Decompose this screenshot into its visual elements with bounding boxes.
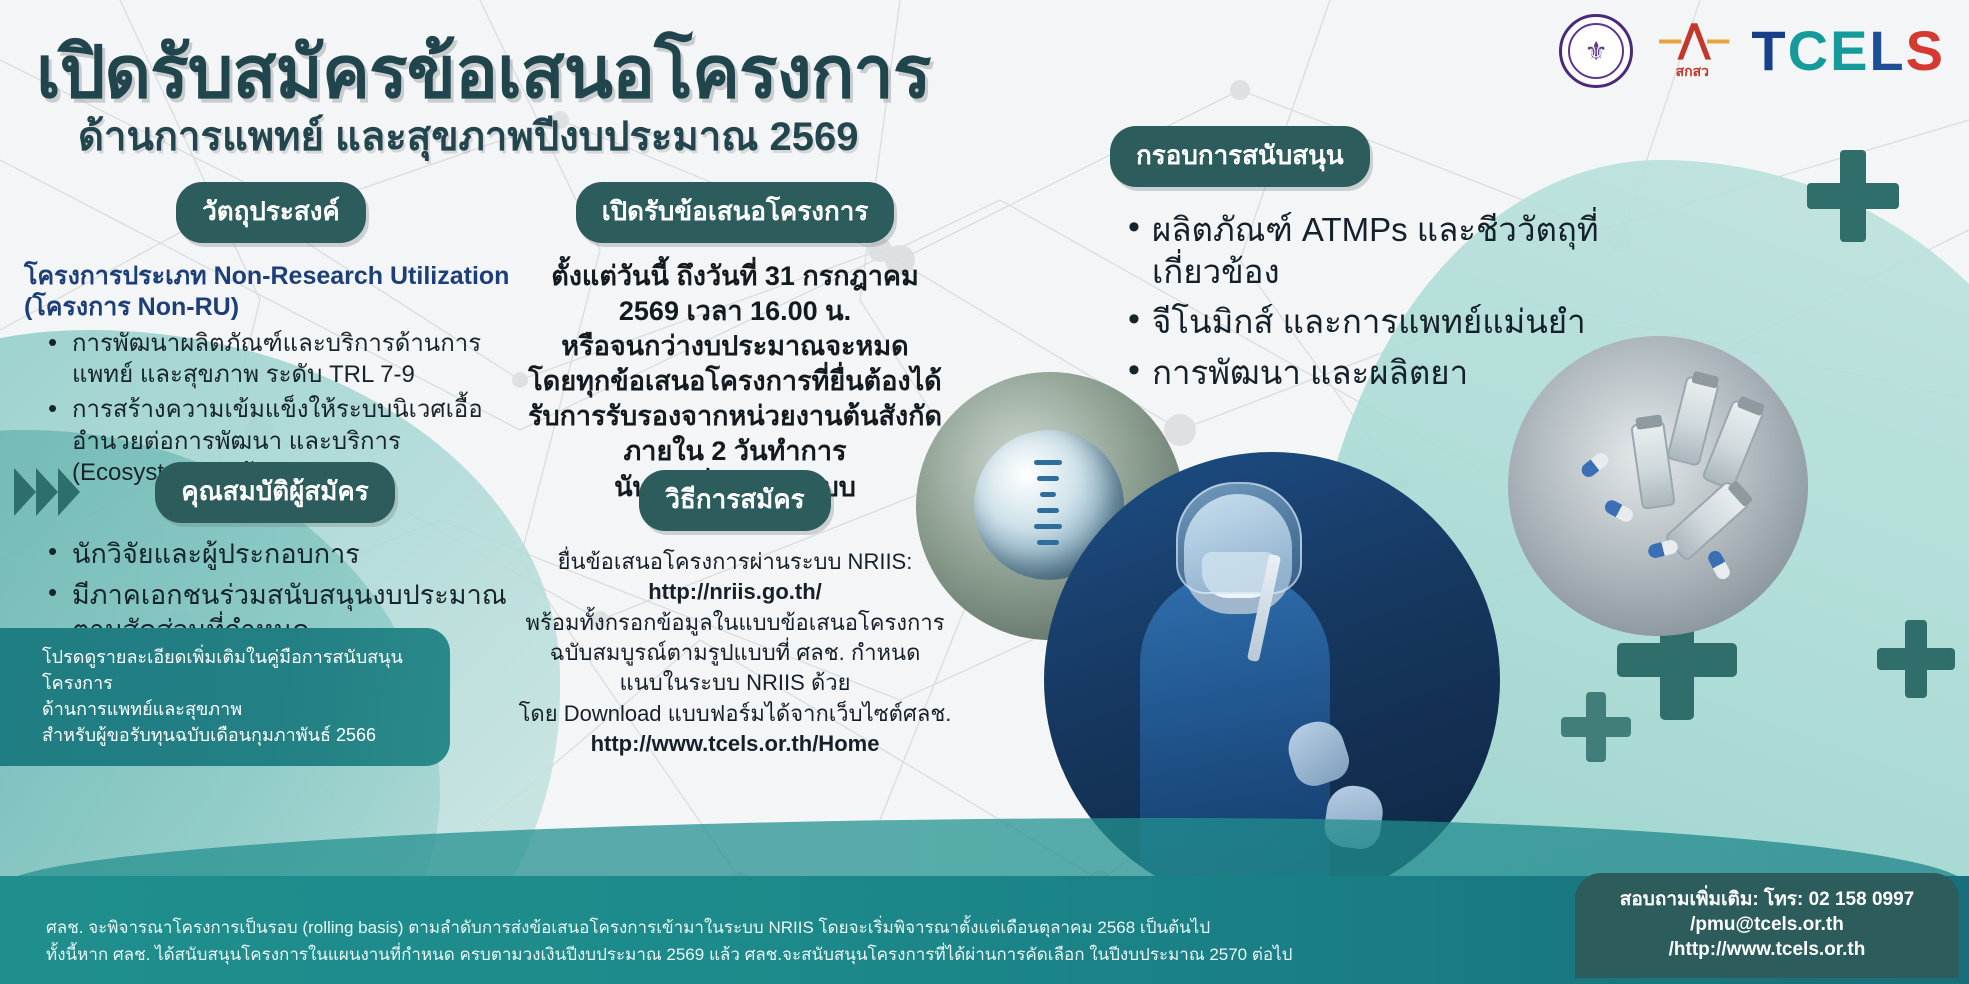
apply-line-6: โดย Download แบบฟอร์มได้จากเว็บไซต์ศลช.: [500, 699, 970, 729]
call-pill-heading: เปิดรับข้อเสนอโครงการ: [576, 182, 895, 243]
seal-emblem-icon: ⚜: [1568, 23, 1624, 79]
medical-cross-icon: [1840, 150, 1866, 242]
call-for-proposal-section: เปิดรับข้อเสนอโครงการ ตั้งแต่วันนี้ ถึงว…: [500, 182, 970, 505]
apply-line-1: ยื่นข้อเสนอโครงการผ่านระบบ NRIIS:: [500, 547, 970, 577]
call-line-4: โดยทุกข้อเสนอโครงการที่ยื่นต้องได้: [500, 364, 970, 399]
worker-head-graphic: [1184, 494, 1292, 614]
nriis-url-link[interactable]: http://nriis.go.th/: [500, 577, 970, 607]
capsule-graphic: [1602, 498, 1635, 524]
medical-cross-icon: [1586, 692, 1606, 762]
capsule-graphic: [1647, 539, 1679, 560]
objective-heading-line1: โครงการประเภท Non-Research Utilization: [24, 261, 520, 292]
note-line-3: สำหรับผู้ขอรับทุนฉบับเดือนกุมภาพันธ์ 256…: [42, 722, 424, 748]
list-item: ผลิตภัณฑ์ ATMPs และชีววัตถุที่เกี่ยวข้อง: [1128, 209, 1666, 293]
tcels-letter-e: E: [1830, 19, 1869, 82]
call-line-6: ภายใน 2 วันทำการ: [500, 434, 970, 469]
scope-pill-heading: กรอบการสนับสนุน: [1110, 126, 1370, 187]
list-item: นักวิจัยและผู้ประกอบการ: [48, 537, 520, 572]
call-body: ตั้งแต่วันนี้ ถึงวันที่ 31 กรกฎาคม 2569 …: [500, 259, 970, 505]
contact-box: สอบถามเพิ่มเติม: โทร: 02 158 0997 /pmu@t…: [1575, 873, 1959, 978]
tcels-letter-s: S: [1906, 19, 1945, 82]
vial-graphic: [1630, 420, 1676, 510]
how-to-apply-section: วิธีการสมัคร ยื่นข้อเสนอโครงการผ่านระบบ …: [500, 470, 970, 760]
glove-graphic: [1282, 715, 1354, 791]
apply-line-4: ฉบับสมบูรณ์ตามรูปแบบที่ ศลช. กำหนด: [500, 638, 970, 668]
apply-line-3: พร้อมทั้งกรอกข้อมูลในแบบข้อเสนอโครงการ: [500, 608, 970, 638]
list-item: จีโนมิกส์ และการแพทย์แม่นยำ: [1128, 301, 1666, 343]
tcels-letter-c: C: [1788, 19, 1830, 82]
qualification-pill-heading: คุณสมบัติผู้สมัคร: [155, 462, 395, 523]
dna-helix-icon: [1034, 460, 1062, 552]
tcels-letter-t: T: [1751, 19, 1787, 82]
page-subtitle: ด้านการแพทย์ และสุขภาพปีงบประมาณ 2569: [78, 104, 858, 168]
contact-website[interactable]: /http://www.tcels.or.th: [1597, 937, 1937, 962]
call-line-2: 2569 เวลา 16.00 น.: [500, 294, 970, 329]
objective-pill-heading: วัตถุประสงค์: [176, 182, 366, 243]
objective-section: วัตถุประสงค์ โครงการประเภท Non-Research …: [0, 182, 520, 492]
call-line-1: ตั้งแต่วันนี้ ถึงวันที่ 31 กรกฎาคม: [500, 259, 970, 294]
handbook-note-box: โปรดดูรายละเอียดเพิ่มเติมในคู่มือการสนับ…: [0, 628, 450, 766]
objective-heading: โครงการประเภท Non-Research Utilization (…: [0, 261, 520, 322]
vials-and-pills-photo: [1508, 336, 1808, 636]
contact-phone: สอบถามเพิ่มเติม: โทร: 02 158 0997: [1597, 887, 1937, 912]
sakosow-logo: ‒⋀‒ สกสว: [1659, 19, 1725, 83]
apply-body: ยื่นข้อเสนอโครงการผ่านระบบ NRIIS: http:/…: [500, 547, 970, 760]
capsule-graphic: [1706, 548, 1732, 581]
tcels-url-link[interactable]: http://www.tcels.or.th/Home: [500, 729, 970, 759]
call-line-3: หรือจนกว่างบประมาณจะหมด: [500, 329, 970, 364]
objective-heading-line2: (โครงการ Non-RU): [24, 292, 520, 323]
footer-line-2: ทั้งนี้หาก ศลช. ได้สนับสนุนโครงการในแผนง…: [46, 942, 1526, 968]
face-shield-icon: [1176, 482, 1302, 594]
call-line-5: รับการรับรองจากหน่วยงานต้นสังกัด: [500, 399, 970, 434]
logo-row: ⚜ ‒⋀‒ สกสว TCELS: [1559, 14, 1945, 88]
capsule-graphic: [1579, 450, 1611, 480]
footer-note: ศลช. จะพิจารณาโครงการเป็นรอบ (rolling ba…: [46, 915, 1526, 968]
list-item: การพัฒนาผลิตภัณฑ์และบริการด้านการแพทย์ แ…: [48, 328, 520, 390]
apply-pill-heading: วิธีการสมัคร: [639, 470, 830, 531]
sakosow-caption: สกสว: [1659, 61, 1725, 83]
medical-cross-icon: [1905, 620, 1927, 698]
sakosow-mark-icon: ‒⋀‒: [1659, 19, 1725, 59]
tcels-logo: TCELS: [1751, 23, 1945, 79]
tcels-letter-l: L: [1869, 19, 1905, 82]
apply-line-5: แนบในระบบ NRIIS ด้วย: [500, 668, 970, 698]
footer-line-1: ศลช. จะพิจารณาโครงการเป็นรอบ (rolling ba…: [46, 915, 1526, 941]
note-line-1: โปรดดูรายละเอียดเพิ่มเติมในคู่มือการสนับ…: [42, 644, 424, 696]
qualification-section: คุณสมบัติผู้สมัคร นักวิจัยและผู้ประกอบกา…: [0, 462, 520, 654]
royal-seal-logo: ⚜: [1559, 14, 1633, 88]
note-line-2: ด้านการแพทย์และสุขภาพ: [42, 696, 424, 722]
contact-email[interactable]: /pmu@tcels.or.th: [1597, 912, 1937, 937]
poster-canvas: เปิดรับสมัครข้อเสนอโครงการ ด้านการแพทย์ …: [0, 0, 1969, 984]
